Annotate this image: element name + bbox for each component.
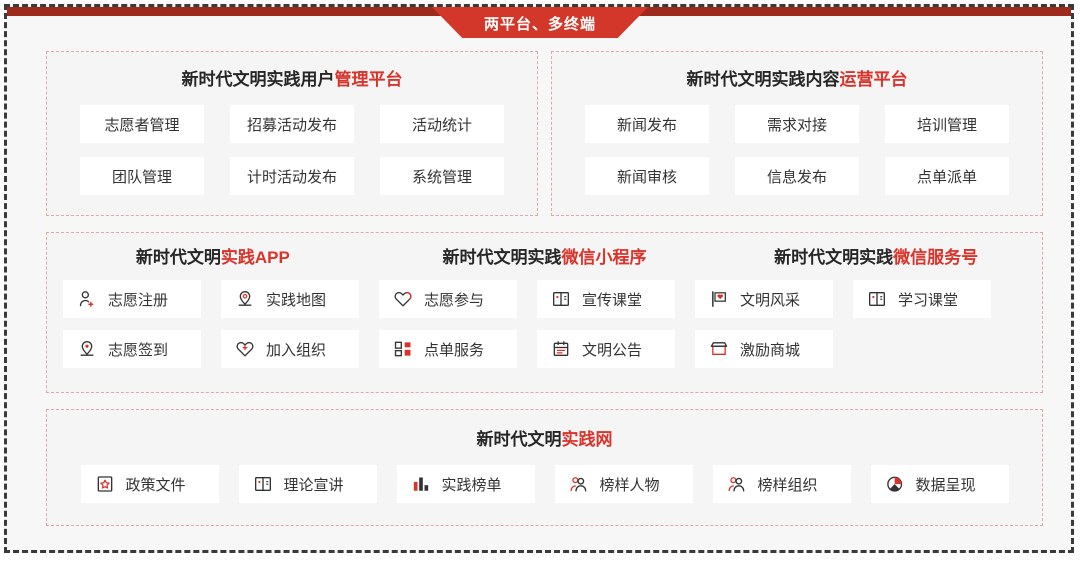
button-role-model-organizations[interactable]: 榜样组织 bbox=[713, 465, 851, 503]
title-plain: 新时代文明实践用户 bbox=[182, 70, 335, 89]
infographic-root: 两平台、多终端 新时代文明实践用户管理平台 志愿者管理 招募活动发布 活动统计 … bbox=[0, 0, 1080, 562]
people-icon bbox=[569, 474, 589, 494]
button-row: 团队管理 计时活动发布 系统管理 bbox=[47, 157, 537, 195]
button-label: 信息发布 bbox=[767, 166, 827, 187]
button-practice-map[interactable]: 实践地图 bbox=[221, 280, 359, 318]
button-order-service[interactable]: 点单服务 bbox=[379, 330, 517, 368]
button-label: 活动统计 bbox=[412, 114, 472, 135]
button-row-spacer bbox=[853, 330, 991, 368]
button-info-publish[interactable]: 信息发布 bbox=[735, 157, 859, 195]
button-label: 理论宣讲 bbox=[284, 474, 344, 495]
banner-title: 两平台、多终端 bbox=[484, 14, 596, 32]
flag-heart-icon bbox=[709, 289, 729, 309]
open-book-icon bbox=[867, 289, 887, 309]
terminal-title-service-account: 新时代文明实践微信服务号 bbox=[710, 249, 1042, 266]
button-news-publish[interactable]: 新闻发布 bbox=[585, 105, 709, 143]
open-book-icon bbox=[551, 289, 571, 309]
button-label: 榜样人物 bbox=[600, 474, 660, 495]
map-pin-icon bbox=[235, 289, 255, 309]
button-label: 点单服务 bbox=[424, 339, 484, 360]
bar-chart-icon bbox=[411, 474, 431, 494]
button-demand-matching[interactable]: 需求对接 bbox=[735, 105, 859, 143]
terminal-titles: 新时代文明实践APP 新时代文明实践微信小程序 新时代文明实践微信服务号 bbox=[47, 249, 1042, 266]
heart-icon bbox=[393, 289, 413, 309]
button-label: 实践榜单 bbox=[442, 474, 502, 495]
terminal-title-miniprogram: 新时代文明实践微信小程序 bbox=[379, 249, 711, 266]
button-theory-lecture[interactable]: 理论宣讲 bbox=[239, 465, 377, 503]
heart-plus-icon bbox=[235, 339, 255, 359]
calendar-icon bbox=[551, 339, 571, 359]
button-role-model-people[interactable]: 榜样人物 bbox=[555, 465, 693, 503]
button-volunteer-management[interactable]: 志愿者管理 bbox=[80, 105, 204, 143]
button-label: 需求对接 bbox=[767, 114, 827, 135]
button-system-management[interactable]: 系统管理 bbox=[380, 157, 504, 195]
button-news-review[interactable]: 新闻审核 bbox=[585, 157, 709, 195]
button-label: 新闻发布 bbox=[617, 114, 677, 135]
button-label: 榜样组织 bbox=[758, 474, 818, 495]
button-label: 激励商城 bbox=[740, 339, 800, 360]
button-row: 政策文件 理论宣讲 bbox=[47, 465, 1042, 503]
banner-ribbon: 两平台、多终端 bbox=[432, 7, 648, 38]
button-label: 点单派单 bbox=[917, 166, 977, 187]
button-policy-documents[interactable]: 政策文件 bbox=[81, 465, 219, 503]
button-volunteer-participate[interactable]: 志愿参与 bbox=[379, 280, 517, 318]
button-civilization-style[interactable]: 文明风采 bbox=[695, 280, 833, 318]
person-add-icon bbox=[77, 289, 97, 309]
button-timed-activity-publish[interactable]: 计时活动发布 bbox=[230, 157, 354, 195]
button-label: 加入组织 bbox=[266, 339, 326, 360]
button-order-dispatch[interactable]: 点单派单 bbox=[885, 157, 1009, 195]
button-label: 志愿签到 bbox=[108, 339, 168, 360]
button-row: 新闻发布 需求对接 培训管理 bbox=[552, 105, 1042, 143]
panel-user-platform: 新时代文明实践用户管理平台 志愿者管理 招募活动发布 活动统计 团队管理 计时活… bbox=[46, 51, 538, 216]
button-practice-ranking[interactable]: 实践榜单 bbox=[397, 465, 535, 503]
button-incentive-mall[interactable]: 激励商城 bbox=[695, 330, 833, 368]
button-volunteer-checkin[interactable]: 志愿签到 bbox=[63, 330, 201, 368]
grid-service-icon bbox=[393, 339, 413, 359]
title-plain: 新时代文明 bbox=[136, 248, 221, 267]
title-accent: 微信服务号 bbox=[893, 248, 978, 267]
panel-ops-platform: 新时代文明实践内容运营平台 新闻发布 需求对接 培训管理 新闻审核 信息发布 点… bbox=[551, 51, 1043, 216]
button-label: 志愿参与 bbox=[424, 289, 484, 310]
panel-web-title: 新时代文明实践网 bbox=[47, 431, 1042, 448]
title-plain: 新时代文明实践 bbox=[443, 248, 562, 267]
button-row: 志愿者管理 招募活动发布 活动统计 bbox=[47, 105, 537, 143]
title-accent: 实践网 bbox=[562, 430, 613, 449]
button-label: 志愿注册 bbox=[108, 289, 168, 310]
button-training-management[interactable]: 培训管理 bbox=[885, 105, 1009, 143]
title-accent: 管理平台 bbox=[335, 70, 403, 89]
button-label: 系统管理 bbox=[412, 166, 472, 187]
button-label: 新闻审核 bbox=[617, 166, 677, 187]
button-label: 文明风采 bbox=[740, 289, 800, 310]
button-label: 培训管理 bbox=[917, 114, 977, 135]
button-row: 志愿签到 加入组织 bbox=[47, 330, 1042, 368]
title-plain: 新时代文明实践 bbox=[774, 248, 893, 267]
button-label: 宣传课堂 bbox=[582, 289, 642, 310]
button-label: 学习课堂 bbox=[898, 289, 958, 310]
open-book-icon bbox=[253, 474, 273, 494]
button-study-classroom[interactable]: 学习课堂 bbox=[853, 280, 991, 318]
button-label: 政策文件 bbox=[126, 474, 186, 495]
title-accent: 运营平台 bbox=[840, 70, 908, 89]
pie-chart-icon bbox=[885, 474, 905, 494]
people-icon bbox=[727, 474, 747, 494]
title-accent: 实践APP bbox=[221, 248, 290, 267]
button-publicity-classroom[interactable]: 宣传课堂 bbox=[537, 280, 675, 318]
panel-terminals: 新时代文明实践APP 新时代文明实践微信小程序 新时代文明实践微信服务号 志愿注… bbox=[46, 232, 1043, 393]
button-data-presentation[interactable]: 数据呈现 bbox=[871, 465, 1009, 503]
button-volunteer-register[interactable]: 志愿注册 bbox=[63, 280, 201, 318]
button-label: 实践地图 bbox=[266, 289, 326, 310]
button-recruit-activity-publish[interactable]: 招募活动发布 bbox=[230, 105, 354, 143]
shop-icon bbox=[709, 339, 729, 359]
terminal-title-app: 新时代文明实践APP bbox=[47, 249, 379, 266]
panel-web: 新时代文明实践网 政策文件 bbox=[46, 409, 1043, 526]
button-label: 志愿者管理 bbox=[104, 114, 179, 135]
button-join-organization[interactable]: 加入组织 bbox=[221, 330, 359, 368]
button-civilization-notice[interactable]: 文明公告 bbox=[537, 330, 675, 368]
button-row: 新闻审核 信息发布 点单派单 bbox=[552, 157, 1042, 195]
document-star-icon bbox=[95, 474, 115, 494]
title-plain: 新时代文明实践内容 bbox=[687, 70, 840, 89]
panel-user-platform-title: 新时代文明实践用户管理平台 bbox=[47, 71, 537, 88]
button-activity-statistics[interactable]: 活动统计 bbox=[380, 105, 504, 143]
title-plain: 新时代文明 bbox=[477, 430, 562, 449]
map-pin-check-icon bbox=[77, 339, 97, 359]
title-accent: 微信小程序 bbox=[562, 248, 647, 267]
button-label: 文明公告 bbox=[582, 339, 642, 360]
button-label: 数据呈现 bbox=[916, 474, 976, 495]
button-row: 志愿注册 实践地图 志 bbox=[47, 280, 1042, 318]
button-label: 计时活动发布 bbox=[247, 166, 337, 187]
button-label: 招募活动发布 bbox=[247, 114, 337, 135]
button-label: 团队管理 bbox=[112, 166, 172, 187]
panel-ops-platform-title: 新时代文明实践内容运营平台 bbox=[552, 71, 1042, 88]
button-team-management[interactable]: 团队管理 bbox=[80, 157, 204, 195]
